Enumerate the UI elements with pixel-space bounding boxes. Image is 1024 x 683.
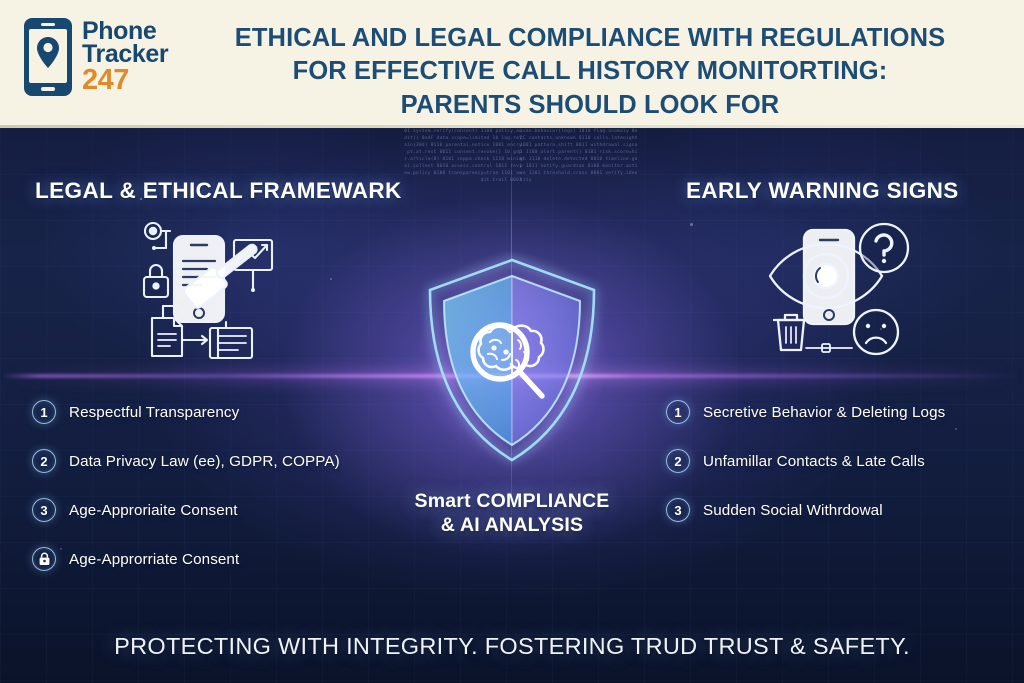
center-caption-line-1: Smart COMPLIANCE xyxy=(332,490,692,514)
phone-location-pin-icon xyxy=(22,16,74,98)
list-item-label: Unfamillar Contacts & Late Calls xyxy=(703,453,925,470)
shield-magnifier-brain-icon xyxy=(412,248,612,478)
list-item[interactable]: 3 Age-Approriaite Consent xyxy=(32,496,340,524)
title-line-1: ETHICAL AND LEGAL COMPLIANCE WITH REGULA… xyxy=(180,22,1000,55)
badge-number: 3 xyxy=(32,498,56,522)
smartphone-gavel-lock-documents-illustration xyxy=(122,214,284,369)
list-item[interactable]: 2 Unfamillar Contacts & Late Calls xyxy=(666,447,945,475)
badge-number: 2 xyxy=(666,449,690,473)
spark-particle xyxy=(690,223,693,226)
left-section-list: 1 Respectful Transparency 2 Data Privacy… xyxy=(32,398,340,594)
center-caption: Smart COMPLIANCE & AI ANALYSIS xyxy=(332,490,692,538)
eye-phone-question-trash-sadface-illustration xyxy=(766,216,924,364)
list-item-label: Age-Approriaite Consent xyxy=(69,502,238,519)
list-item[interactable]: 3 Sudden Social Withrdowal xyxy=(666,496,945,524)
left-section-heading: LEGAL & ETHICAL FRAMEWARK xyxy=(35,178,402,204)
title-line-2: FOR EFFECTIVE CALL HISTORY MONITORTING: xyxy=(180,55,1000,88)
badge-number: 1 xyxy=(32,400,56,424)
header-bar: Phone Tracker 247 ETHICAL AND LEGAL COMP… xyxy=(0,0,1024,128)
list-item-label: Sudden Social Withrdowal xyxy=(703,502,883,519)
list-item-label: Age-Approrriate Consent xyxy=(69,551,239,568)
brand-logo[interactable]: Phone Tracker 247 xyxy=(22,16,168,98)
infographic-body: 01 system.verify(consent) 1100 policy.au… xyxy=(0,128,1024,683)
footer-tagline: PROTECTING WITH INTEGRITY. FOSTERING TRU… xyxy=(0,633,1024,660)
badge-number: 2 xyxy=(32,449,56,473)
center-caption-line-2: & AI ANALYSIS xyxy=(332,514,692,538)
list-item-label: Secretive Behavior & Deleting Logs xyxy=(703,404,945,421)
list-item-label: Data Privacy Law (ee), GDPR, COPPA) xyxy=(69,453,340,470)
right-section-list: 1 Secretive Behavior & Deleting Logs 2 U… xyxy=(666,398,945,545)
right-section-heading: EARLY WARNING SIGNS xyxy=(686,178,959,204)
infographic-page: Phone Tracker 247 ETHICAL AND LEGAL COMP… xyxy=(0,0,1024,683)
spark-particle xyxy=(955,428,957,430)
title-line-3: PARENTS SHOULD LOOK FOR xyxy=(180,89,1000,122)
badge-number: 1 xyxy=(666,400,690,424)
page-title: ETHICAL AND LEGAL COMPLIANCE WITH REGULA… xyxy=(180,22,1000,122)
logo-wordmark: Phone Tracker 247 xyxy=(82,20,168,94)
list-item[interactable]: Age-Approrriate Consent xyxy=(32,545,340,573)
list-item[interactable]: 2 Data Privacy Law (ee), GDPR, COPPA) xyxy=(32,447,340,475)
list-item-label: Respectful Transparency xyxy=(69,404,239,421)
lock-icon xyxy=(38,552,51,566)
spark-particle xyxy=(330,278,332,280)
list-item[interactable]: 1 Secretive Behavior & Deleting Logs xyxy=(666,398,945,426)
list-item[interactable]: 1 Respectful Transparency xyxy=(32,398,340,426)
badge-lock xyxy=(32,547,56,571)
logo-line-247: 247 xyxy=(82,67,168,94)
